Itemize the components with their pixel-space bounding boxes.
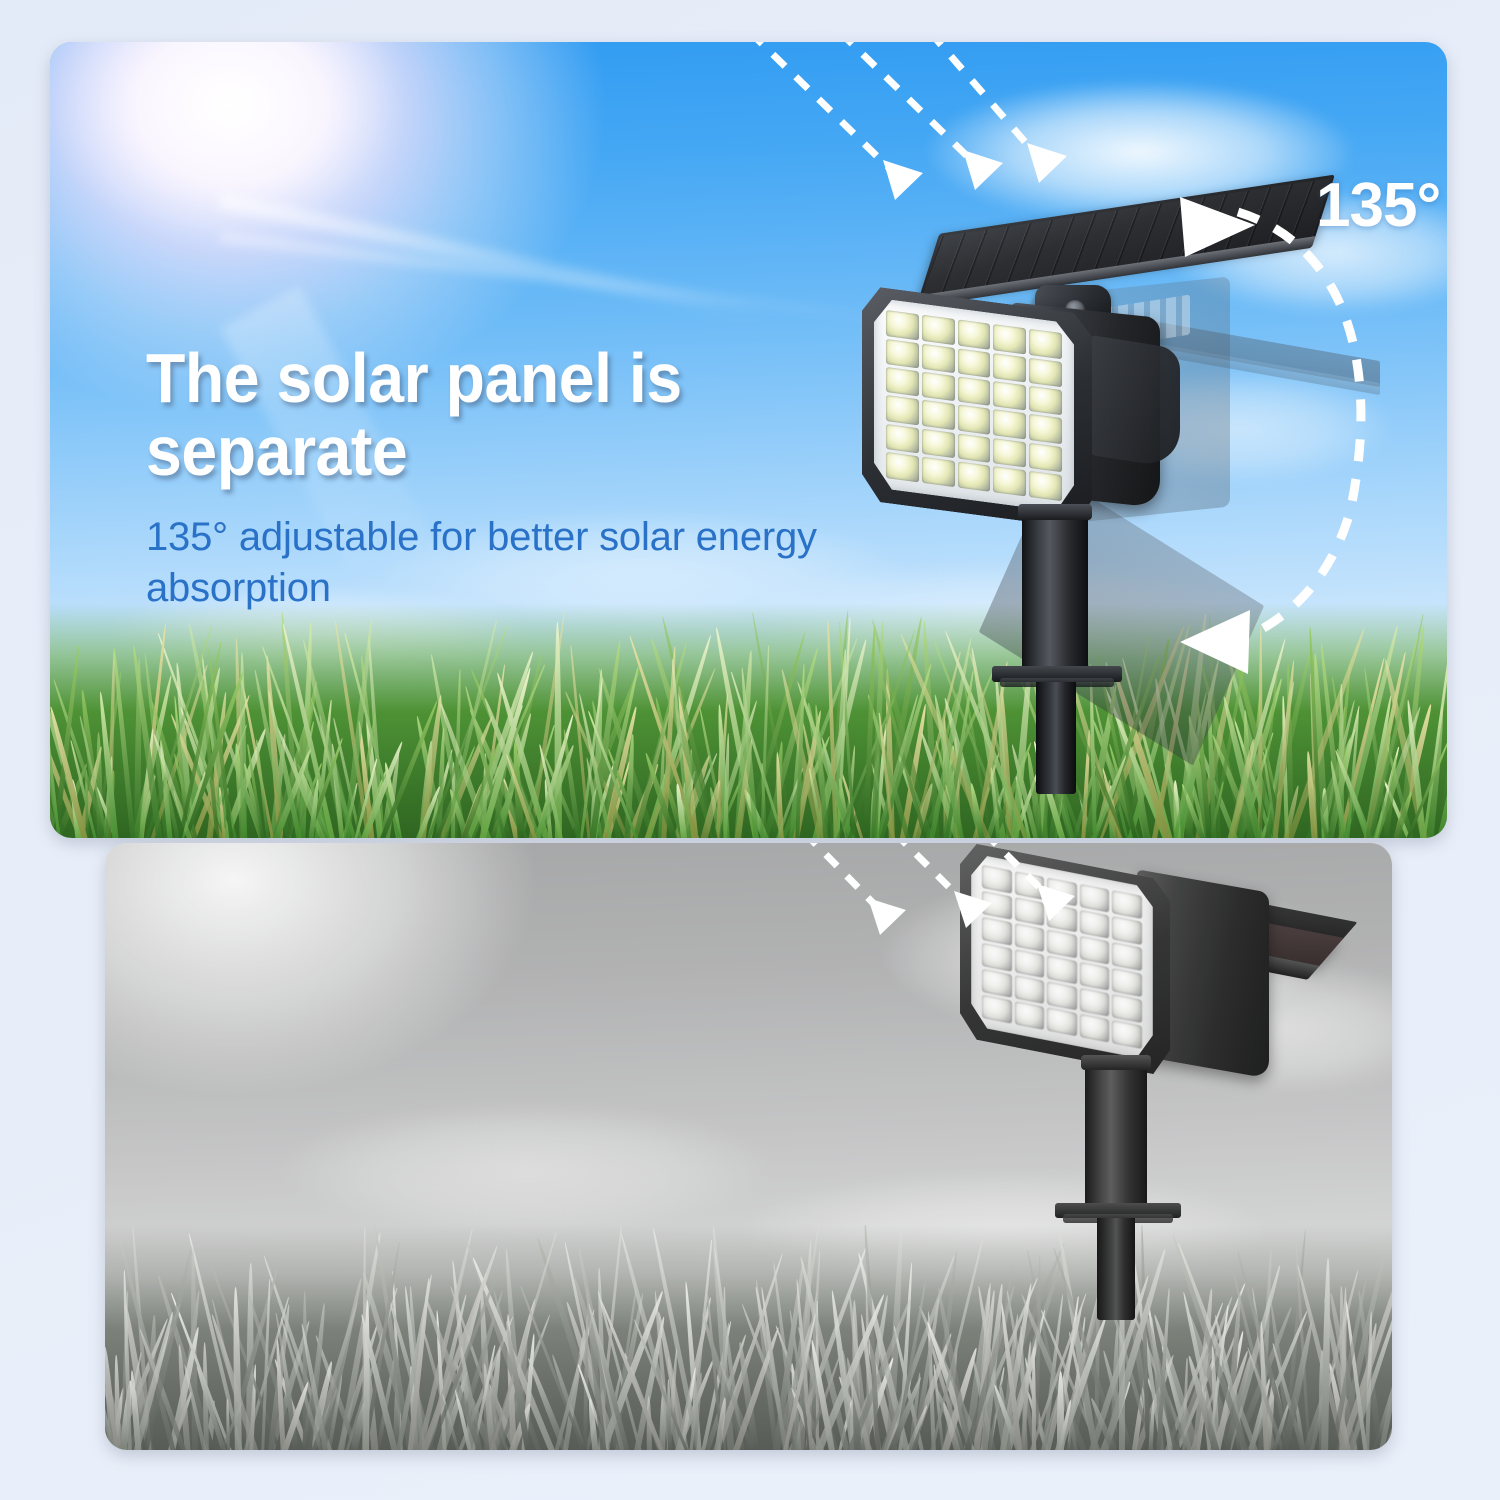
annotation-overlay bbox=[105, 843, 1392, 1450]
rotation-arrowhead-bottom bbox=[1180, 610, 1250, 674]
rotation-arrowhead-top bbox=[1180, 197, 1255, 257]
solar-panel-separate-card: The solar panel is separate 135° adjusta… bbox=[50, 42, 1447, 838]
page-subtitle: 135° adjustable for better solar energy … bbox=[146, 512, 846, 614]
sun-ray-line-3 bbox=[930, 42, 1032, 150]
panel-fixed-card: Panel can't adjust independently bbox=[105, 843, 1392, 1450]
sun-ray-line-3 bbox=[985, 843, 1043, 891]
rotation-arc-path bbox=[1213, 212, 1361, 650]
sun-ray-line-2 bbox=[895, 843, 960, 898]
angle-label: 135° bbox=[1316, 170, 1440, 241]
sun-ray-arrowheads bbox=[868, 884, 1075, 935]
sun-ray-line-1 bbox=[805, 843, 875, 905]
page-title: The solar panel is separate bbox=[146, 342, 845, 488]
sun-ray-line-2 bbox=[840, 42, 968, 157]
sun-ray-arrowheads bbox=[883, 143, 1067, 200]
